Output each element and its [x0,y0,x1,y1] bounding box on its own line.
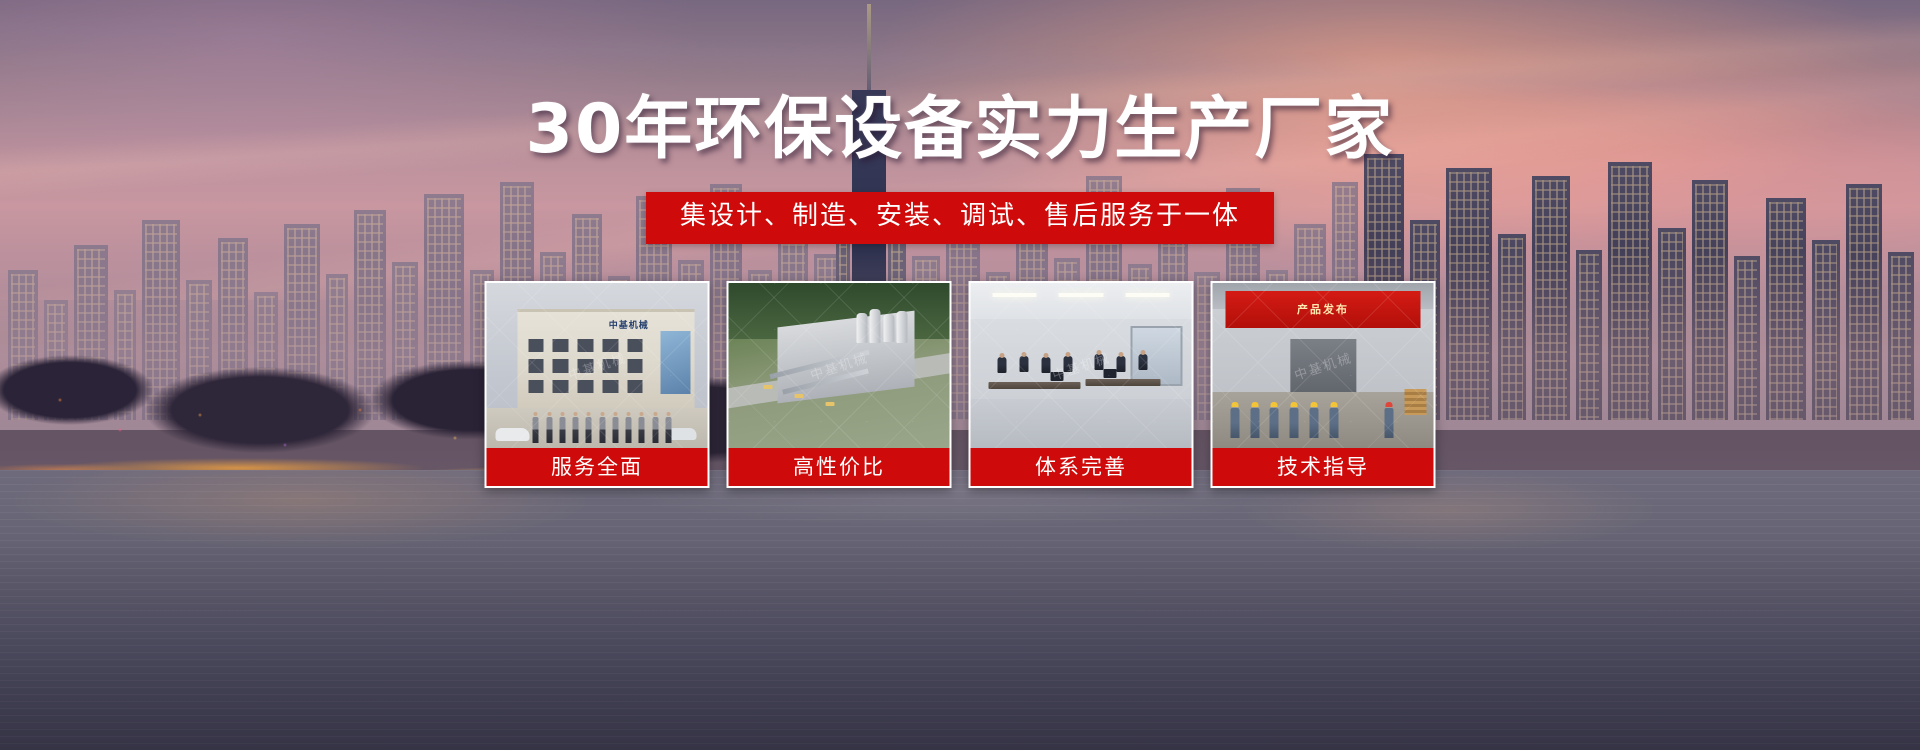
feature-card-3[interactable]: 中基机械 体系完善 [969,281,1194,488]
page-title: 30年环保设备实力生产厂家 [0,96,1920,164]
card-2-photo: 中基机械 [729,283,950,448]
feature-card-2[interactable]: 中基机械 高性价比 [727,281,952,488]
card-4-caption: 技术指导 [1213,448,1434,486]
feature-card-4[interactable]: 产品发布 中基机械 技术指导 [1211,281,1436,488]
card-1-photo: 中基机械 [487,283,708,448]
factory-banner-text: 产品发布 [1226,291,1420,327]
card-2-caption: 高性价比 [729,448,950,486]
card-3-caption: 体系完善 [971,448,1192,486]
card-1-caption: 服务全面 [487,448,708,486]
banner-content: 30年环保设备实力生产厂家 集设计、制造、安装、调试、售后服务于一体 中基机械 [0,0,1920,750]
building-signage: 中基机械 [588,319,669,330]
hero-banner: 30年环保设备实力生产厂家 集设计、制造、安装、调试、售后服务于一体 中基机械 [0,0,1920,750]
subtitle-banner: 集设计、制造、安装、调试、售后服务于一体 [646,192,1274,244]
card-4-photo: 产品发布 中基机械 [1213,283,1434,448]
feature-card-list: 中基机械 [485,281,1436,488]
feature-card-1[interactable]: 中基机械 [485,281,710,488]
card-3-photo: 中基机械 [971,283,1192,448]
